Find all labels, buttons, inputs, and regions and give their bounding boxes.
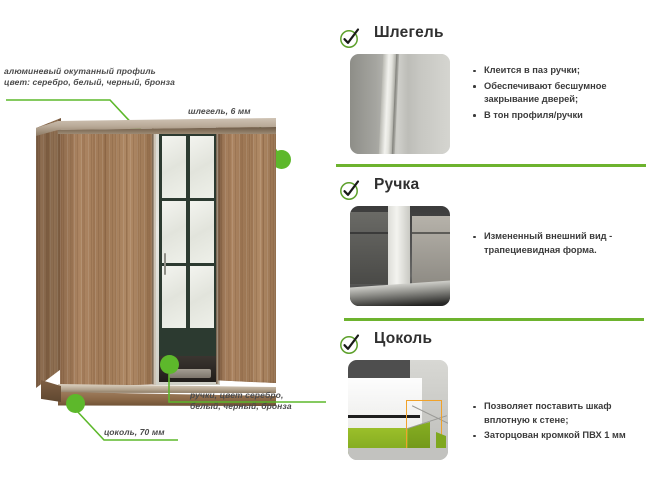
check-circle-icon <box>338 178 362 202</box>
bullet-item: Обеспечивают бесшумное закрывание дверей… <box>472 80 648 107</box>
mirror-pane <box>190 201 214 263</box>
cabinet-side-panel <box>36 118 61 388</box>
plinth-base-photo <box>348 360 448 460</box>
panel-groove <box>412 232 450 234</box>
bullet-item: Клеится в паз ручки; <box>472 64 648 78</box>
callout-plinth-line1: цоколь, 70 мм <box>104 427 165 438</box>
check-circle-icon <box>338 332 362 356</box>
feature-title: Ручка <box>374 176 419 194</box>
dark-door-panel <box>350 212 388 284</box>
product-illustration-panel: алюминевый окутанный профиль цвет: сереб… <box>0 0 330 500</box>
feature-body: Позволяет поставить шкаф вплотную к стен… <box>330 360 652 468</box>
features-panel: Шлегель Клеится в паз ручки; Обеспечиваю… <box>330 0 652 500</box>
bullet-item: Позволяет поставить шкаф вплотную к стен… <box>472 400 652 427</box>
check-circle-icon <box>338 26 362 50</box>
sliding-door-right <box>218 126 276 383</box>
section-divider <box>344 318 644 321</box>
wardrobe-graphic <box>36 118 276 404</box>
feature-section-ruchka: Ручка Измененный внешний вид - трапециев… <box>330 176 652 314</box>
cabinet-left-foot <box>41 380 61 402</box>
feature-title: Цоколь <box>374 330 432 348</box>
trapezoid-handle <box>388 206 410 294</box>
floor-strip <box>348 448 448 460</box>
callout-profile-line2: цвет: серебро, белый, черный, бронза <box>4 77 175 88</box>
bullet-item: В тон профиля/ручки <box>472 109 648 123</box>
callout-profile-line1: алюминевый окутанный профиль <box>4 66 175 77</box>
callout-plinth: цоколь, 70 мм <box>104 427 165 438</box>
feature-body: Клеится в паз ручки; Обеспечивают бесшум… <box>330 54 652 162</box>
mirror-pane <box>162 136 186 198</box>
mirror-pane <box>162 266 186 328</box>
callout-profile: алюминевый окутанный профиль цвет: сереб… <box>4 66 175 88</box>
section-divider <box>336 164 646 167</box>
callout-handles-line1: ручки, цвет серебро, <box>190 390 292 401</box>
schlegel-brush-seal-photo <box>350 54 450 154</box>
infographic-root: алюминевый окутанный профиль цвет: сереб… <box>0 0 652 500</box>
mirror-reflected-handle <box>164 253 166 275</box>
sliding-door-left <box>60 129 155 387</box>
mirror-pane <box>190 136 214 198</box>
thumb-background <box>350 54 450 154</box>
mirror-pane <box>190 266 214 328</box>
feature-header: Шлегель <box>330 24 652 54</box>
feature-section-shlegel: Шлегель Клеится в паз ручки; Обеспечиваю… <box>330 24 652 162</box>
feature-section-tsokol: Цоколь Позволяет поставить ш <box>330 330 652 468</box>
feature-bullet-list: Измененный внешний вид - трапециевидная … <box>472 230 648 259</box>
feature-header: Цоколь <box>330 330 652 360</box>
feature-bullet-list: Клеится в паз ручки; Обеспечивают бесшум… <box>472 64 648 124</box>
sliding-door-mirror <box>154 128 220 385</box>
mirror-reflection-frame <box>159 133 218 358</box>
feature-body: Измененный внешний вид - трапециевидная … <box>330 206 652 314</box>
light-door-panel <box>412 216 450 286</box>
panel-groove <box>350 232 388 234</box>
feature-header: Ручка <box>330 176 652 206</box>
feature-title: Шлегель <box>374 24 444 42</box>
bullet-item: Измененный внешний вид - трапециевидная … <box>472 230 648 257</box>
bullet-item: Заторцован кромкой ПВХ 1 мм <box>472 429 652 443</box>
feature-bullet-list: Позволяет поставить шкаф вплотную к стен… <box>472 400 652 445</box>
handle-profile-photo <box>350 206 450 306</box>
